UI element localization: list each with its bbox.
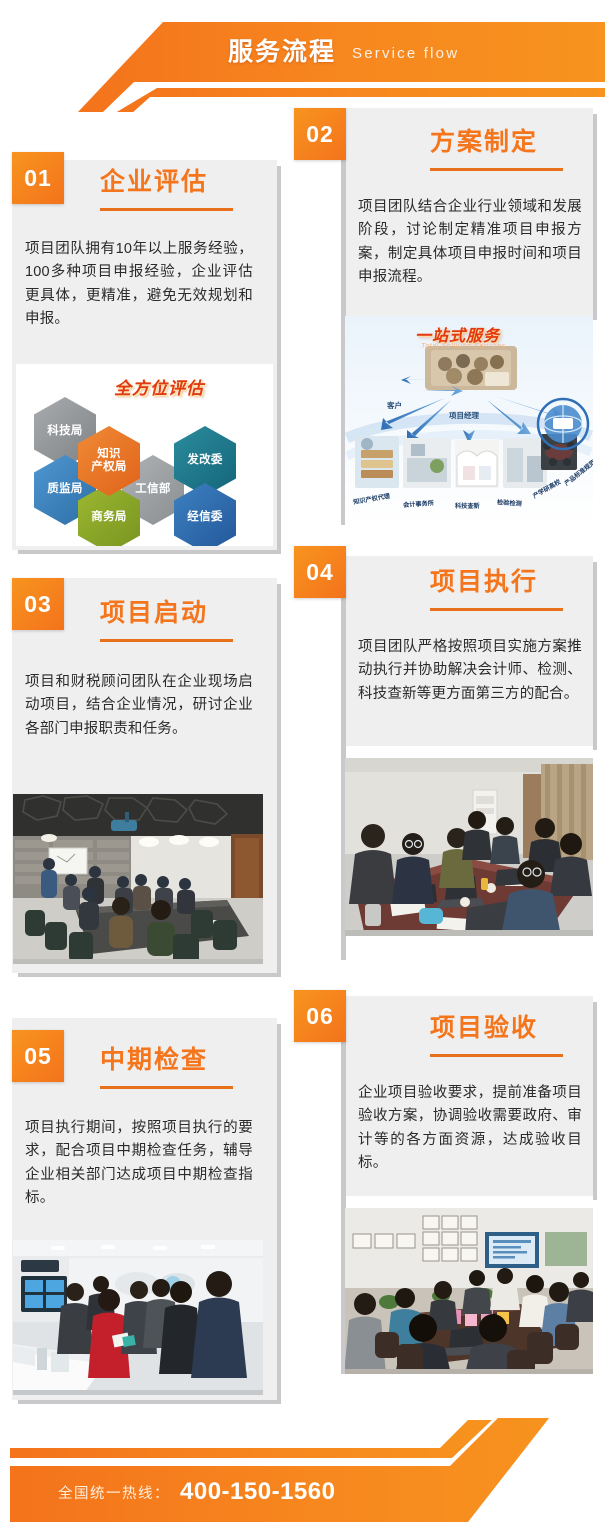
one-stop-label-customer: 客户 bbox=[387, 400, 402, 411]
card-shadow-right bbox=[277, 584, 281, 977]
card-04-title-underline bbox=[430, 608, 563, 611]
card-shadow-bottom bbox=[18, 550, 281, 554]
card-01-title: 企业评估 bbox=[100, 170, 208, 195]
card-shadow-bottom bbox=[18, 973, 281, 977]
card-05-body: 项目执行期间，按照项目执行的要求，配合项目中期检查任务，辅导企业相关部门达成项目… bbox=[25, 1117, 253, 1211]
photo-acceptance-conference bbox=[345, 1208, 593, 1374]
card-02-title: 方案制定 bbox=[430, 130, 538, 155]
card-05-number: 05 bbox=[24, 1043, 52, 1070]
page-title: 服务流程 bbox=[228, 40, 336, 65]
card-05-photo bbox=[13, 1240, 263, 1395]
card-shadow-right bbox=[277, 166, 281, 554]
hex-node-label: 知识产权局 bbox=[91, 448, 126, 474]
hex-node-label: 发改委 bbox=[187, 454, 222, 467]
one-stop-label-tech-search: 科技查新 bbox=[455, 501, 480, 510]
card-06-number-badge: 06 bbox=[294, 990, 346, 1042]
card-06-title-underline bbox=[430, 1054, 563, 1057]
card-02-title-underline bbox=[430, 168, 563, 171]
hex-node-label: 质监局 bbox=[47, 483, 82, 496]
card-04-photo bbox=[345, 758, 593, 936]
hotline-label: 全国统一热线： bbox=[58, 1487, 170, 1502]
photo-meeting-room-kickoff bbox=[13, 794, 263, 964]
one-stop-subtitle: Total Solution Services bbox=[421, 343, 506, 350]
photo-team-laptops-meeting bbox=[345, 758, 593, 936]
card-06-number: 06 bbox=[306, 1003, 334, 1030]
card-06-body: 企业项目验收要求，提前准备项目验收方案，协调验收需要政府、审计等的各方面资源，达… bbox=[358, 1082, 582, 1176]
card-02-illustration: 一站式服务 Total Solution Services 客户 项目经理 知识… bbox=[345, 316, 593, 525]
card-06-photo bbox=[345, 1208, 593, 1374]
hex-node-label: 工信部 bbox=[135, 483, 170, 496]
hotline-number: 400-150-1560 bbox=[180, 1480, 335, 1504]
card-01-illustration: 全方位评估 科技局 知识产权局 质监局 工信部 商务局 发改委 经信委 bbox=[16, 364, 273, 546]
card-shadow-bottom bbox=[18, 1400, 281, 1404]
card-03-number: 03 bbox=[24, 591, 52, 618]
one-stop-label-inspection: 检验检测 bbox=[497, 497, 522, 508]
card-03-photo bbox=[13, 794, 263, 964]
card-05-title: 中期检查 bbox=[100, 1048, 208, 1073]
card-02-body: 项目团队结合企业行业领域和发展阶段，讨论制定精准项目申报方案，制定具体项目申报时… bbox=[358, 196, 582, 290]
card-04-number-badge: 04 bbox=[294, 546, 346, 598]
card-04-title: 项目执行 bbox=[430, 570, 538, 595]
card-01-title-underline bbox=[100, 208, 233, 211]
card-03-title-underline bbox=[100, 639, 233, 642]
card-03-title: 项目启动 bbox=[100, 601, 208, 626]
card-shadow-right bbox=[593, 1002, 597, 1200]
card-02-number: 02 bbox=[306, 121, 334, 148]
card-01-body: 项目团队拥有10年以上服务经验，100多种项目申报经验，企业评估更具体，更精准，… bbox=[25, 238, 253, 332]
photo-showroom-tour bbox=[13, 1240, 263, 1395]
page-subtitle: Service flow bbox=[352, 46, 459, 61]
hex-node-label: 经信委 bbox=[187, 511, 222, 524]
card-02-number-badge: 02 bbox=[294, 108, 346, 160]
page-header: 服务流程 Service flow bbox=[0, 0, 605, 108]
card-05-number-badge: 05 bbox=[12, 1030, 64, 1082]
card-03-number-badge: 03 bbox=[12, 578, 64, 630]
card-01-number-badge: 01 bbox=[12, 152, 64, 204]
card-05-title-underline bbox=[100, 1086, 233, 1089]
one-stop-label-manager: 项目经理 bbox=[449, 410, 479, 421]
card-shadow-right bbox=[277, 1024, 281, 1404]
card-04-body: 项目团队严格按照项目实施方案推动执行并协助解决会计师、检测、科技查新等更方面第三… bbox=[358, 636, 582, 706]
hex-node-label: 商务局 bbox=[91, 511, 126, 524]
card-03-body: 项目和财税顾问团队在企业现场启动项目，结合企业情况，研讨企业各部门申报职责和任务… bbox=[25, 671, 253, 741]
service-flow-page: 服务流程 Service flow 01 企业评估 项目团队拥有10年以上服务经… bbox=[0, 0, 605, 1538]
page-footer: 全国统一热线： 400-150-1560 bbox=[0, 1418, 605, 1538]
card-01-number: 01 bbox=[24, 165, 52, 192]
card-04-number: 04 bbox=[306, 559, 334, 586]
card-06-title: 项目验收 bbox=[430, 1016, 538, 1041]
card-shadow-right bbox=[593, 562, 597, 750]
hex-node-label: 科技局 bbox=[47, 425, 82, 438]
hexagon-diagram-title: 全方位评估 bbox=[114, 374, 204, 399]
card-shadow-right bbox=[593, 114, 597, 320]
